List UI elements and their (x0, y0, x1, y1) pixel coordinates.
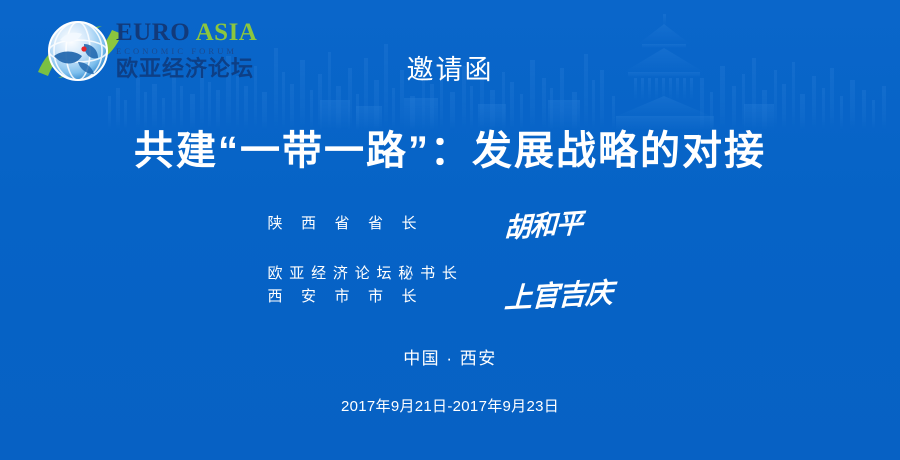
signature-block: 陕西省省长 胡和平 欧亚经济论坛秘书长 西安市市长 上官吉庆 (0, 206, 900, 326)
logo-euro-text: EURO (116, 19, 190, 46)
event-dates: 2017年9月21日-2017年9月23日 (0, 395, 900, 416)
logo-asia-text: ASIA (196, 19, 258, 46)
signatory-titles: 陕西省省长 (268, 212, 483, 235)
signatory-title-line: 欧亚经济论坛秘书长 (268, 262, 483, 285)
signatory-title-line: 陕西省省长 (268, 212, 483, 235)
event-location: 中国 · 西安 (0, 344, 900, 369)
signatory-titles: 欧亚经济论坛秘书长 西安市市长 (268, 262, 483, 309)
signature-row: 陕西省省长 胡和平 (0, 212, 900, 247)
signature-row: 欧亚经济论坛秘书长 西安市市长 上官吉庆 (0, 262, 900, 318)
signatory-title-line: 西安市市长 (268, 285, 483, 308)
invitation-label: 邀请函 (0, 48, 900, 87)
invitation-poster: EURO ASIA ECONOMIC FORUM 欧亚经济论坛 邀请函 共建“一… (0, 0, 900, 460)
signature-handwriting: 胡和平 (481, 198, 632, 248)
signature-handwriting: 上官吉庆 (481, 270, 632, 318)
page-title: 共建“一带一路”：发展战略的对接 (0, 118, 900, 176)
logo-wordmark: EURO ASIA (116, 20, 276, 45)
